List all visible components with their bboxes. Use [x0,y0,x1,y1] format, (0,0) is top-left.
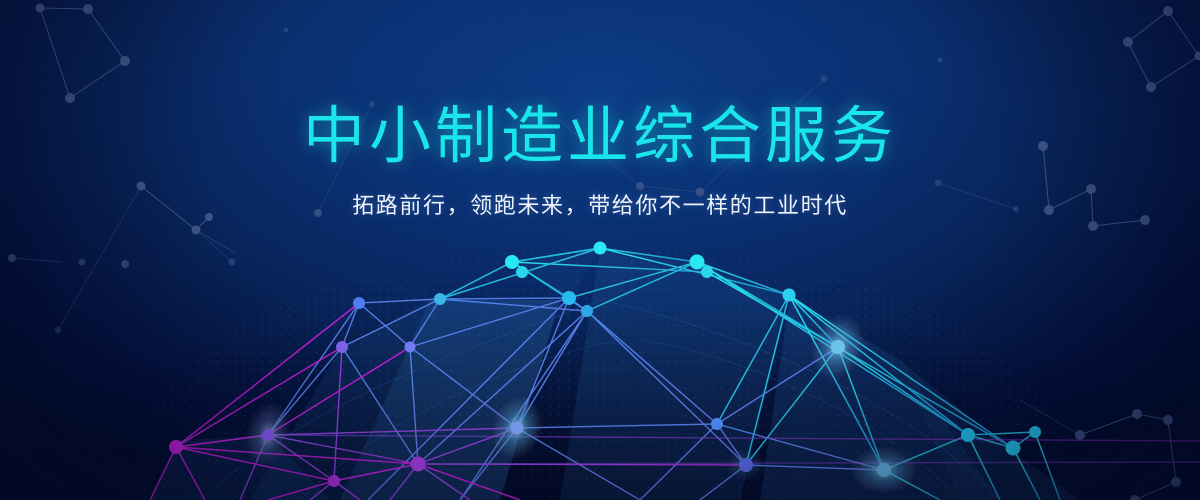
background-vignette [0,0,1200,500]
hero-banner: 中小制造业综合服务 拓路前行，领跑未来，带给你不一样的工业时代 [0,0,1200,500]
